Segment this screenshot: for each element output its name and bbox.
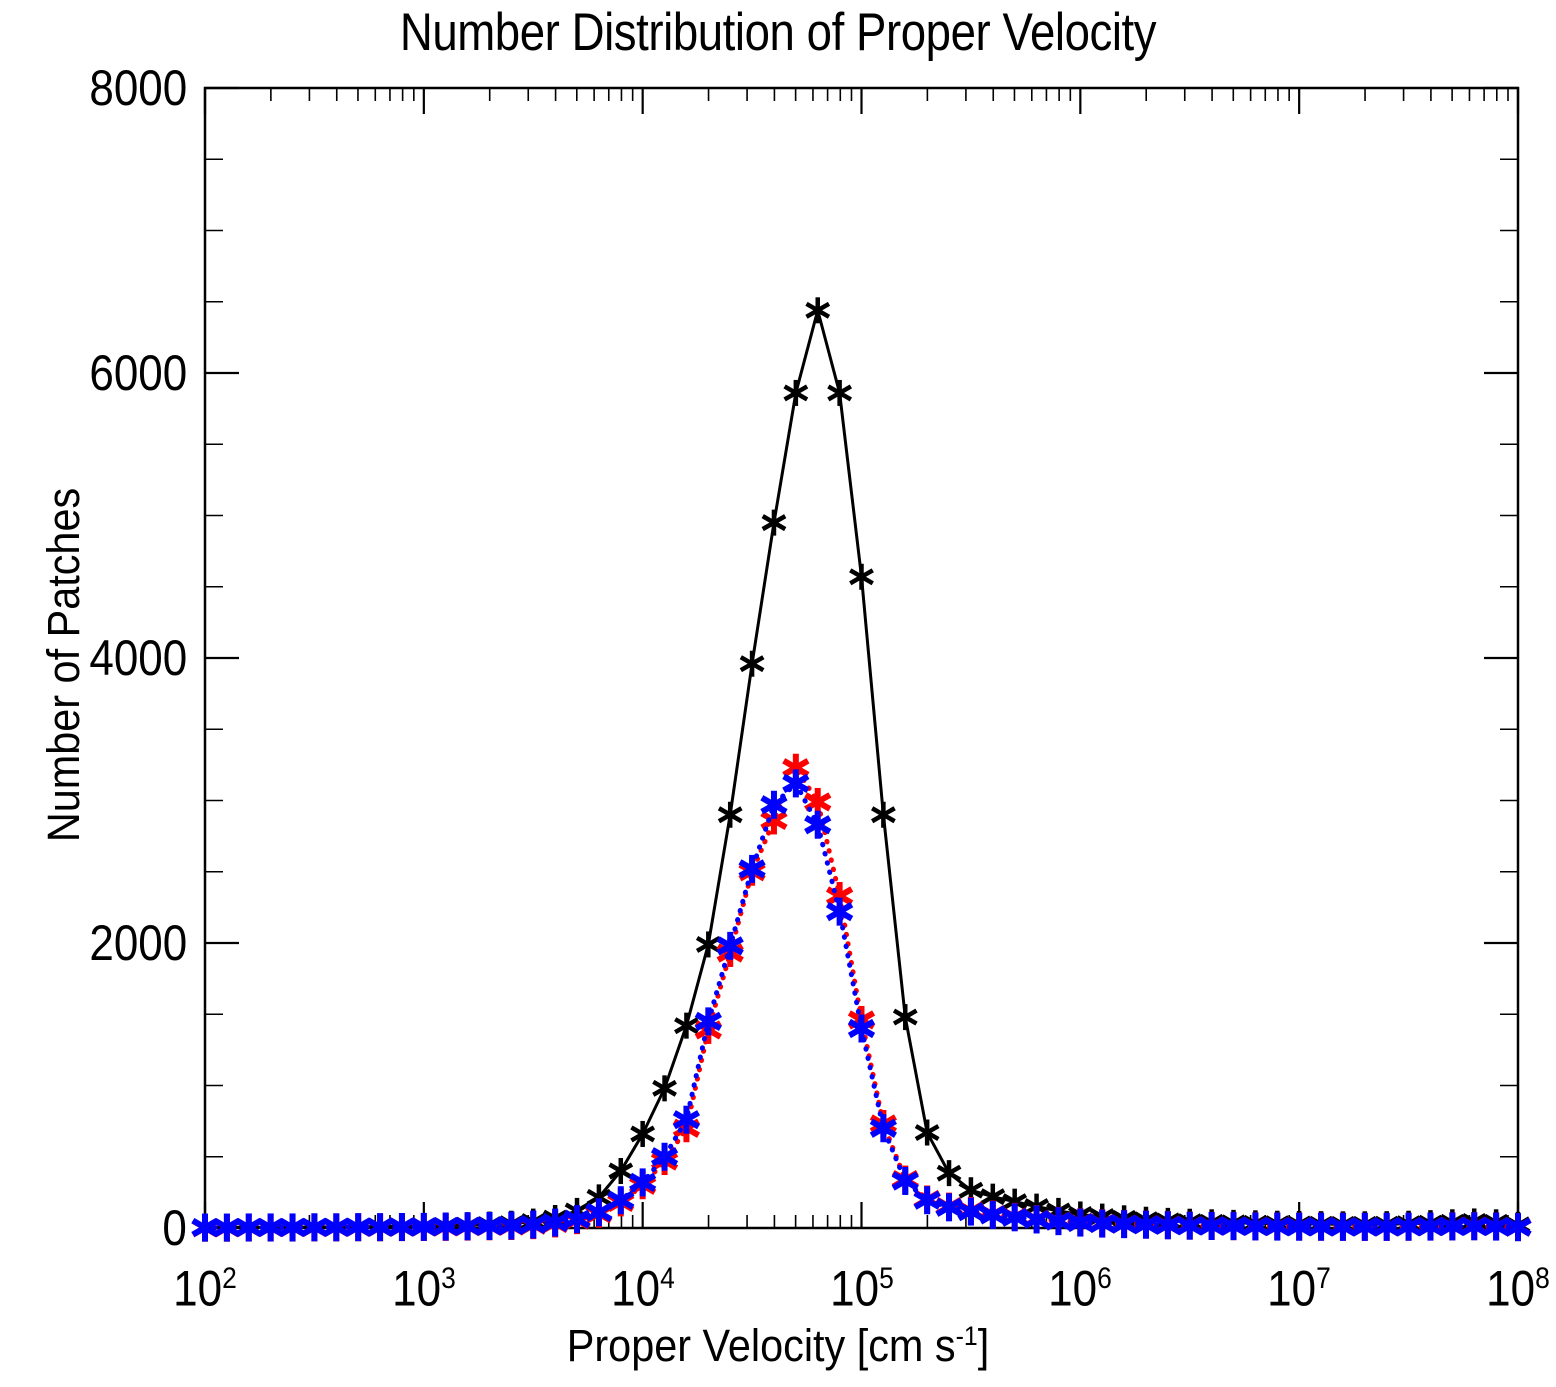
x-axis-title-base: Proper Velocity [cm s bbox=[567, 1320, 956, 1371]
series-line-total bbox=[205, 310, 1518, 1227]
plot-frame bbox=[205, 88, 1518, 1228]
x-tick-label-base: 10 bbox=[392, 1261, 441, 1317]
x-tick-label-exponent: 3 bbox=[441, 1262, 456, 1295]
y-tick-label: 2000 bbox=[89, 918, 187, 968]
x-axis-title-exponent: -1 bbox=[956, 1321, 978, 1351]
series-line-subset-blue bbox=[205, 783, 1518, 1227]
x-tick-label-exponent: 4 bbox=[660, 1262, 675, 1295]
x-tick-label: 108 bbox=[1430, 1254, 1556, 1314]
x-tick-label-base: 10 bbox=[1267, 1261, 1316, 1317]
x-tick-label: 106 bbox=[992, 1254, 1168, 1314]
y-tick-label: 8000 bbox=[89, 63, 187, 113]
x-tick-label-base: 10 bbox=[173, 1261, 222, 1317]
y-tick-label: 6000 bbox=[89, 348, 187, 398]
x-tick-label-exponent: 7 bbox=[1316, 1262, 1331, 1295]
x-axis-title: Proper Velocity [cm s-1] bbox=[62, 1310, 1494, 1372]
x-tick-label: 104 bbox=[555, 1254, 731, 1314]
x-tick-label-base: 10 bbox=[611, 1261, 660, 1317]
chart-figure: Number Distribution of Proper Velocity N… bbox=[0, 0, 1556, 1387]
x-tick-label-exponent: 2 bbox=[222, 1262, 237, 1295]
x-tick-label-exponent: 5 bbox=[879, 1262, 894, 1295]
x-tick-label-base: 10 bbox=[1049, 1261, 1098, 1317]
series-subset-blue bbox=[193, 769, 1530, 1241]
y-tick-label: 4000 bbox=[89, 633, 187, 683]
series-total bbox=[194, 297, 1530, 1240]
x-tick-label: 107 bbox=[1211, 1254, 1387, 1314]
x-axis-title-tail: ] bbox=[978, 1320, 990, 1371]
x-tick-label-exponent: 6 bbox=[1097, 1262, 1112, 1295]
series-line-subset-red bbox=[205, 768, 1518, 1228]
plot-area bbox=[0, 0, 1556, 1387]
y-tick-label: 0 bbox=[163, 1203, 187, 1253]
x-tick-label-exponent: 8 bbox=[1535, 1262, 1550, 1295]
x-tick-label: 105 bbox=[774, 1254, 950, 1314]
x-tick-label: 103 bbox=[336, 1254, 512, 1314]
y-axis-title: Number of Patches bbox=[39, 389, 89, 941]
series-subset-red bbox=[193, 754, 1530, 1242]
x-tick-label-base: 10 bbox=[830, 1261, 879, 1317]
x-tick-label: 102 bbox=[117, 1254, 293, 1314]
x-tick-label-base: 10 bbox=[1486, 1261, 1535, 1317]
